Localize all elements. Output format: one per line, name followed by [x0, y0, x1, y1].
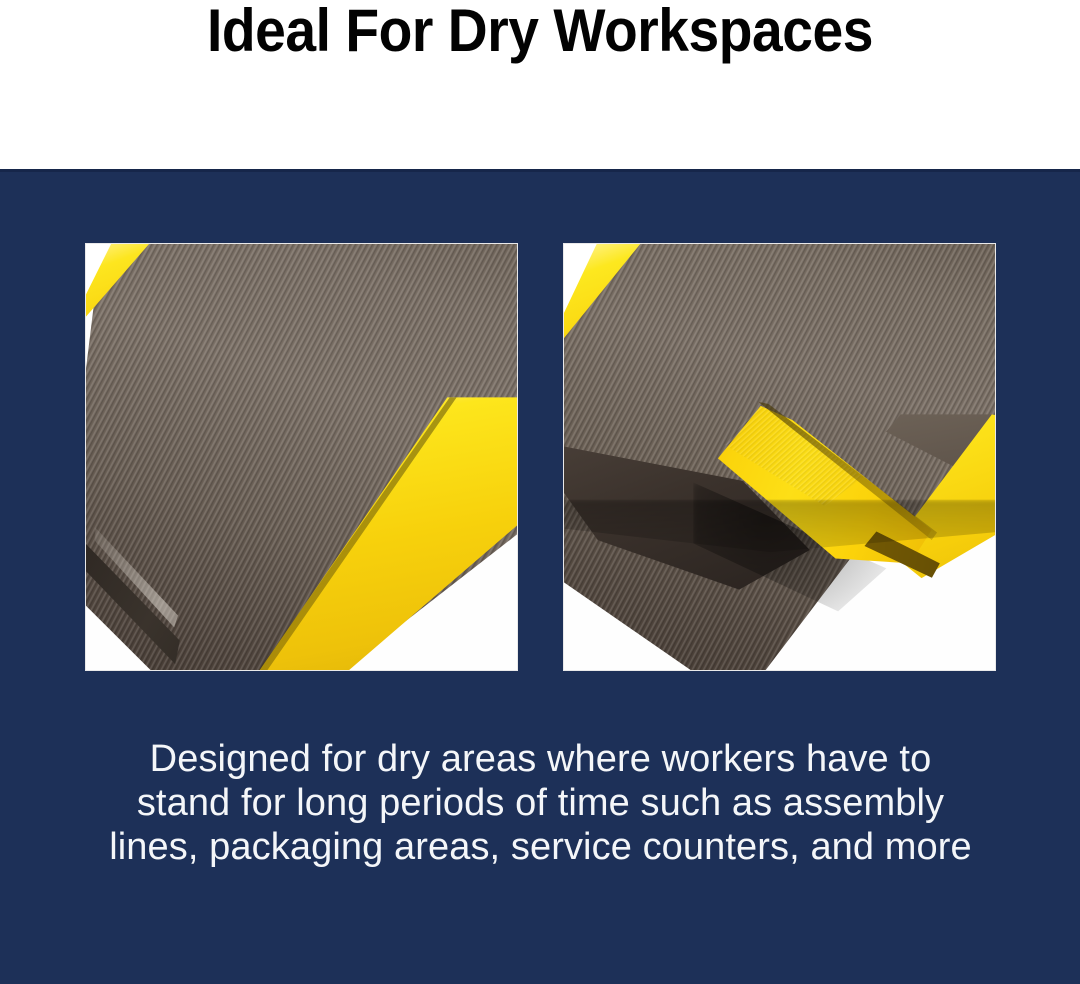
header-band: Ideal For Dry Workspaces [0, 0, 1080, 169]
page-title: Ideal For Dry Workspaces [43, 0, 1037, 64]
product-feature-card: Ideal For Dry Workspaces [0, 0, 1080, 984]
product-photo-mat-flat-corner[interactable]: Close-up of a ribbed dark brown anti-fat… [85, 243, 518, 671]
caption-line-3: lines, packaging areas, service counters… [85, 825, 996, 869]
product-photo-mat-folded-corner[interactable]: The same ribbed anti-fatigue mat with it… [563, 243, 996, 671]
navy-content-panel: Close-up of a ribbed dark brown anti-fat… [0, 169, 1080, 984]
product-photo-gallery: Close-up of a ribbed dark brown anti-fat… [85, 243, 996, 671]
caption-line-2: stand for long periods of time such as a… [85, 781, 996, 825]
feature-caption: Designed for dry areas where workers hav… [85, 737, 996, 869]
caption-line-1: Designed for dry areas where workers hav… [85, 737, 996, 781]
photo-canvas-flat-corner [86, 244, 517, 670]
photo-canvas-folded-corner [564, 244, 995, 670]
